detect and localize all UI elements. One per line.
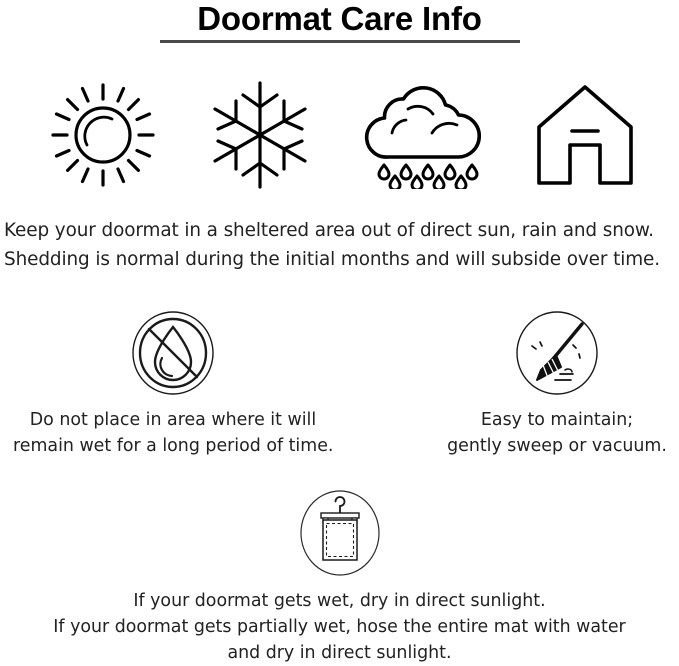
doormat-care-info-page: Doormat Care Info (0, 0, 679, 655)
dry-caption: If your doormat gets wet, dry in direct … (0, 588, 679, 666)
intro-line-1: Keep your doormat in a sheltered area ou… (4, 216, 675, 245)
no-water-caption: Do not place in area where it will remai… (13, 407, 333, 459)
snowflake-icon-cell (180, 74, 340, 196)
snowflake-icon (209, 79, 311, 191)
weather-icon-row (0, 74, 679, 196)
care-instruction-row: Do not place in area where it will remai… (0, 308, 679, 473)
no-water-caption-line-2: remain wet for a long period of time. (13, 433, 333, 459)
intro-paragraph: Keep your doormat in a sheltered area ou… (0, 216, 679, 274)
dry-caption-line-1: If your doormat gets wet, dry in direct … (0, 588, 679, 614)
page-header: Doormat Care Info (0, 0, 679, 43)
dry-instruction-section: If your doormat gets wet, dry in direct … (0, 487, 679, 666)
care-item-no-standing-water: Do not place in area where it will remai… (13, 308, 333, 459)
broom-sweep-badge (397, 308, 679, 398)
house-icon-cell (505, 74, 665, 196)
rain-cloud-icon-cell (342, 74, 502, 196)
broom-sweep-icon (515, 310, 599, 396)
sun-icon-cell (23, 74, 183, 196)
rain-cloud-icon (362, 81, 482, 189)
hang-dry-badge (0, 487, 679, 579)
no-water-caption-line-1: Do not place in area where it will (13, 407, 333, 433)
no-water-badge (13, 308, 333, 398)
sun-icon (48, 79, 158, 191)
dry-caption-line-2: If your doormat gets partially wet, hose… (0, 614, 679, 640)
no-water-icon (131, 310, 215, 396)
house-icon (530, 83, 640, 187)
easy-maintain-caption-line-2: gently sweep or vacuum. (397, 433, 679, 459)
easy-maintain-caption: Easy to maintain; gently sweep or vacuum… (397, 407, 679, 459)
page-title: Doormat Care Info (0, 0, 679, 38)
care-item-easy-maintain: Easy to maintain; gently sweep or vacuum… (397, 308, 679, 459)
title-underline-divider (160, 40, 520, 43)
intro-line-2: Shedding is normal during the initial mo… (4, 245, 675, 274)
hang-dry-icon (299, 489, 381, 577)
easy-maintain-caption-line-1: Easy to maintain; (397, 407, 679, 433)
dry-caption-line-3: and dry in direct sunlight. (0, 640, 679, 666)
